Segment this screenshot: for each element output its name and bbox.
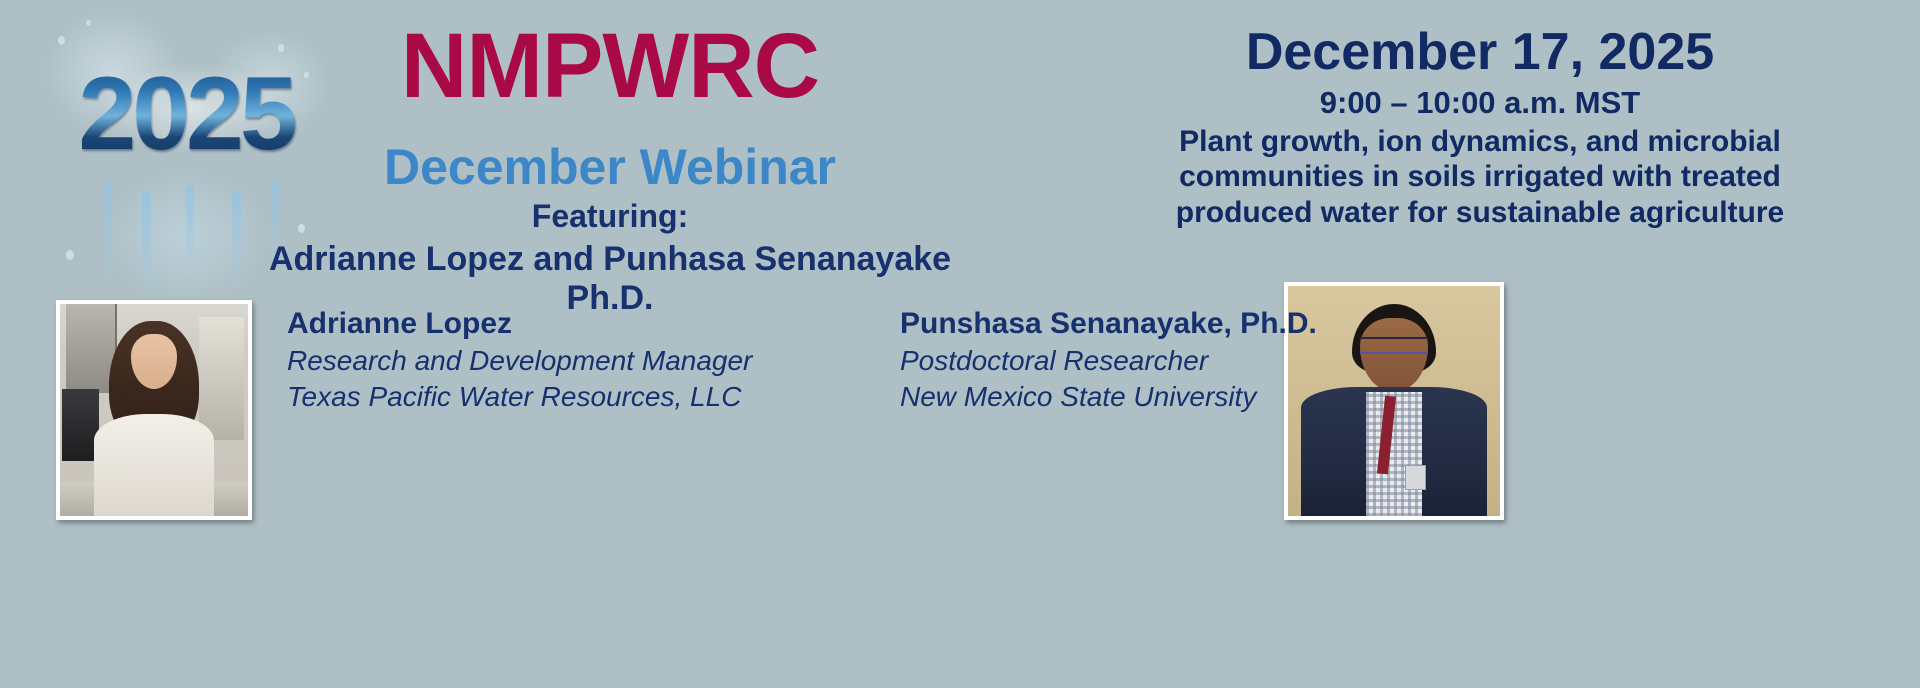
photo-content bbox=[60, 304, 248, 516]
logo-year-text: 2025 bbox=[46, 62, 326, 166]
lab-cabinet bbox=[199, 317, 244, 440]
water-streak bbox=[186, 186, 194, 274]
person-lab-coat bbox=[94, 414, 214, 516]
speaker-bio-left: Adrianne Lopez Research and Development … bbox=[287, 305, 847, 415]
water-streak bbox=[142, 192, 151, 296]
droplet-icon bbox=[86, 20, 91, 26]
speaker-photo-adrianne-lopez bbox=[56, 300, 252, 520]
speaker-bio-right: Punshasa Senanayake, Ph.D. Postdoctoral … bbox=[900, 305, 1420, 415]
talk-title-line: Plant growth, ion dynamics, and microbia… bbox=[1130, 124, 1830, 159]
webinar-subtitle: December Webinar bbox=[330, 140, 890, 195]
featuring-label: Featuring: bbox=[330, 198, 890, 235]
droplet-icon bbox=[298, 224, 305, 233]
water-streak bbox=[104, 182, 111, 274]
talk-title: Plant growth, ion dynamics, and microbia… bbox=[1130, 124, 1830, 230]
event-time: 9:00 – 10:00 a.m. MST bbox=[1130, 85, 1830, 121]
speaker-name: Punshasa Senanayake, Ph.D. bbox=[900, 305, 1420, 343]
droplet-icon bbox=[66, 250, 74, 260]
speaker-name: Adrianne Lopez bbox=[287, 305, 847, 343]
page-title: NMPWRC bbox=[330, 18, 890, 115]
event-date: December 17, 2025 bbox=[1130, 24, 1830, 81]
speaker-title: Research and Development Manager bbox=[287, 343, 847, 379]
water-streak bbox=[232, 190, 241, 288]
talk-title-line: communities in soils irrigated with trea… bbox=[1130, 159, 1830, 194]
speaker-affiliation: Texas Pacific Water Resources, LLC bbox=[287, 379, 847, 415]
talk-title-line: produced water for sustainable agricultu… bbox=[1130, 195, 1830, 230]
speaker-affiliation: New Mexico State University bbox=[900, 379, 1420, 415]
webinar-banner: 2025 NMPWRC December Webinar Featuring: … bbox=[0, 0, 1920, 688]
droplet-icon bbox=[58, 36, 65, 45]
speaker-title: Postdoctoral Researcher bbox=[900, 343, 1420, 379]
badge bbox=[1405, 465, 1426, 490]
droplet-icon bbox=[278, 44, 284, 52]
